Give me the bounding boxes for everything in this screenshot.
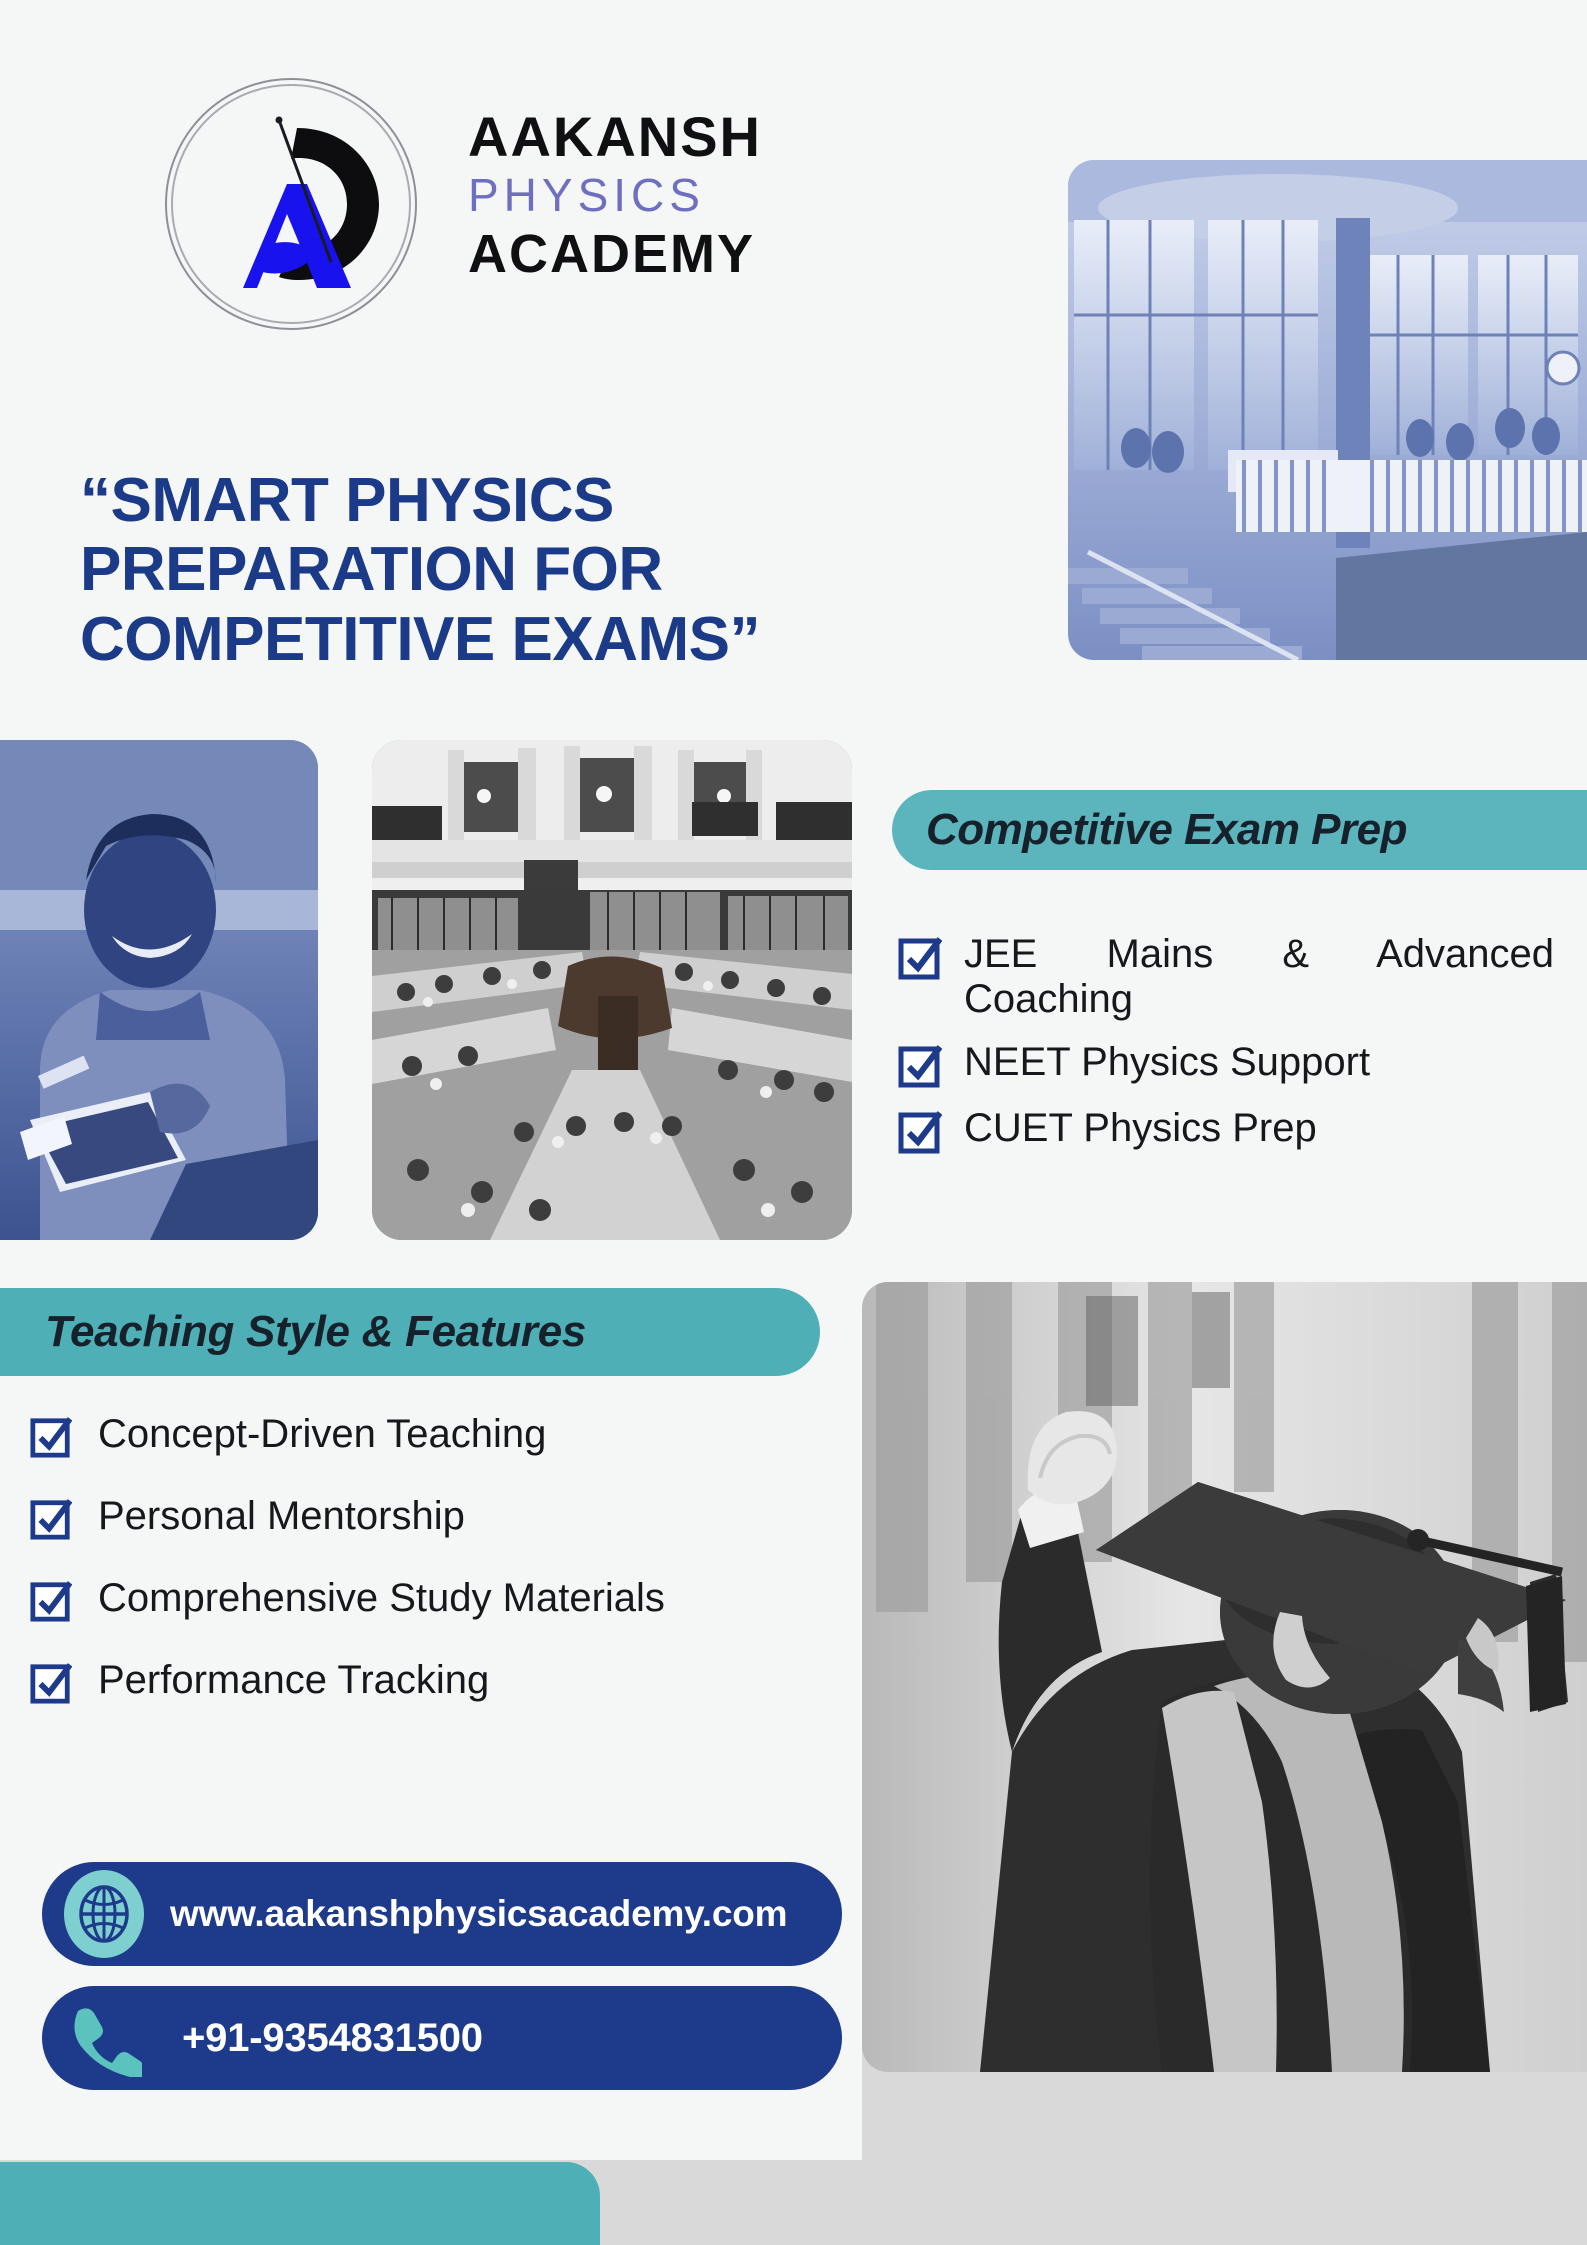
campus-library-atrium-photo	[1068, 160, 1587, 660]
list-item: CUET Physics Prep	[898, 1106, 1587, 1154]
list-item-label: Comprehensive Study Materials	[98, 1576, 665, 1621]
brand-wordmark: AAKANSH PHYSICS ACADEMY	[468, 108, 968, 282]
website-pill[interactable]: www.aakanshphysicsacademy.com	[42, 1862, 842, 1966]
poster-canvas: AAKANSH PHYSICS ACADEMY “SMART PHYSICS P…	[0, 0, 1587, 2245]
checkbox-checked-icon	[898, 1110, 942, 1154]
student-writing-notebook-photo	[0, 740, 318, 1240]
hero-image	[1068, 160, 1587, 660]
teaching-list: Concept-Driven Teaching Personal Mentors…	[30, 1412, 840, 1740]
teaching-title: Teaching Style & Features	[45, 1307, 586, 1357]
checkbox-checked-icon	[30, 1580, 72, 1622]
exam-prep-banner: Competitive Exam Prep	[892, 790, 1587, 870]
list-item: Concept-Driven Teaching	[30, 1412, 840, 1458]
checkbox-checked-icon	[898, 1044, 942, 1088]
brand-name: AAKANSH	[468, 108, 968, 165]
list-item: Comprehensive Study Materials	[30, 1576, 840, 1622]
checkbox-checked-icon	[30, 1416, 72, 1458]
list-item-label: NEET Physics Support	[964, 1040, 1370, 1085]
graduate-raising-fist-photo	[862, 1282, 1587, 2072]
phone-icon	[64, 1999, 142, 2077]
list-item-label: Concept-Driven Teaching	[98, 1412, 546, 1457]
checkbox-checked-icon	[30, 1498, 72, 1540]
phone-label: +91-9354831500	[182, 2016, 483, 2061]
library-reading-room-photo	[372, 740, 852, 1240]
checkbox-checked-icon	[30, 1662, 72, 1704]
exam-prep-title: Competitive Exam Prep	[926, 805, 1407, 855]
list-item: Performance Tracking	[30, 1658, 840, 1704]
checkbox-checked-icon	[898, 936, 942, 980]
globe-badge	[64, 1870, 144, 1958]
student-image	[0, 740, 318, 1240]
list-item: JEE Mains & Advanced Coaching	[898, 932, 1587, 1022]
phone-icon-wrap	[64, 1999, 142, 2077]
brand-subject: PHYSICS	[468, 167, 968, 225]
aakansh-monogram-icon	[179, 92, 399, 312]
globe-icon-wrap	[64, 1870, 144, 1958]
list-item-label: JEE Mains & Advanced Coaching	[964, 932, 1554, 1022]
logo	[165, 78, 425, 338]
globe-icon	[78, 1885, 130, 1943]
phone-pill[interactable]: +91-9354831500	[42, 1986, 842, 2090]
list-item: NEET Physics Support	[898, 1040, 1587, 1088]
teaching-banner: Teaching Style & Features	[0, 1288, 820, 1376]
exam-prep-list: JEE Mains & Advanced Coaching NEET Physi…	[898, 932, 1587, 1172]
bottom-teal-panel	[0, 2162, 600, 2245]
graduate-image	[862, 1282, 1587, 2072]
list-item-label: Personal Mentorship	[98, 1494, 465, 1539]
list-item: Personal Mentorship	[30, 1494, 840, 1540]
headline: “SMART PHYSICS PREPARATION FOR COMPETITI…	[80, 466, 880, 674]
list-item-label: Performance Tracking	[98, 1658, 489, 1703]
library-image	[372, 740, 852, 1240]
website-label: www.aakanshphysicsacademy.com	[170, 1893, 787, 1935]
list-item-label: CUET Physics Prep	[964, 1106, 1317, 1151]
brand-type: ACADEMY	[468, 227, 968, 282]
